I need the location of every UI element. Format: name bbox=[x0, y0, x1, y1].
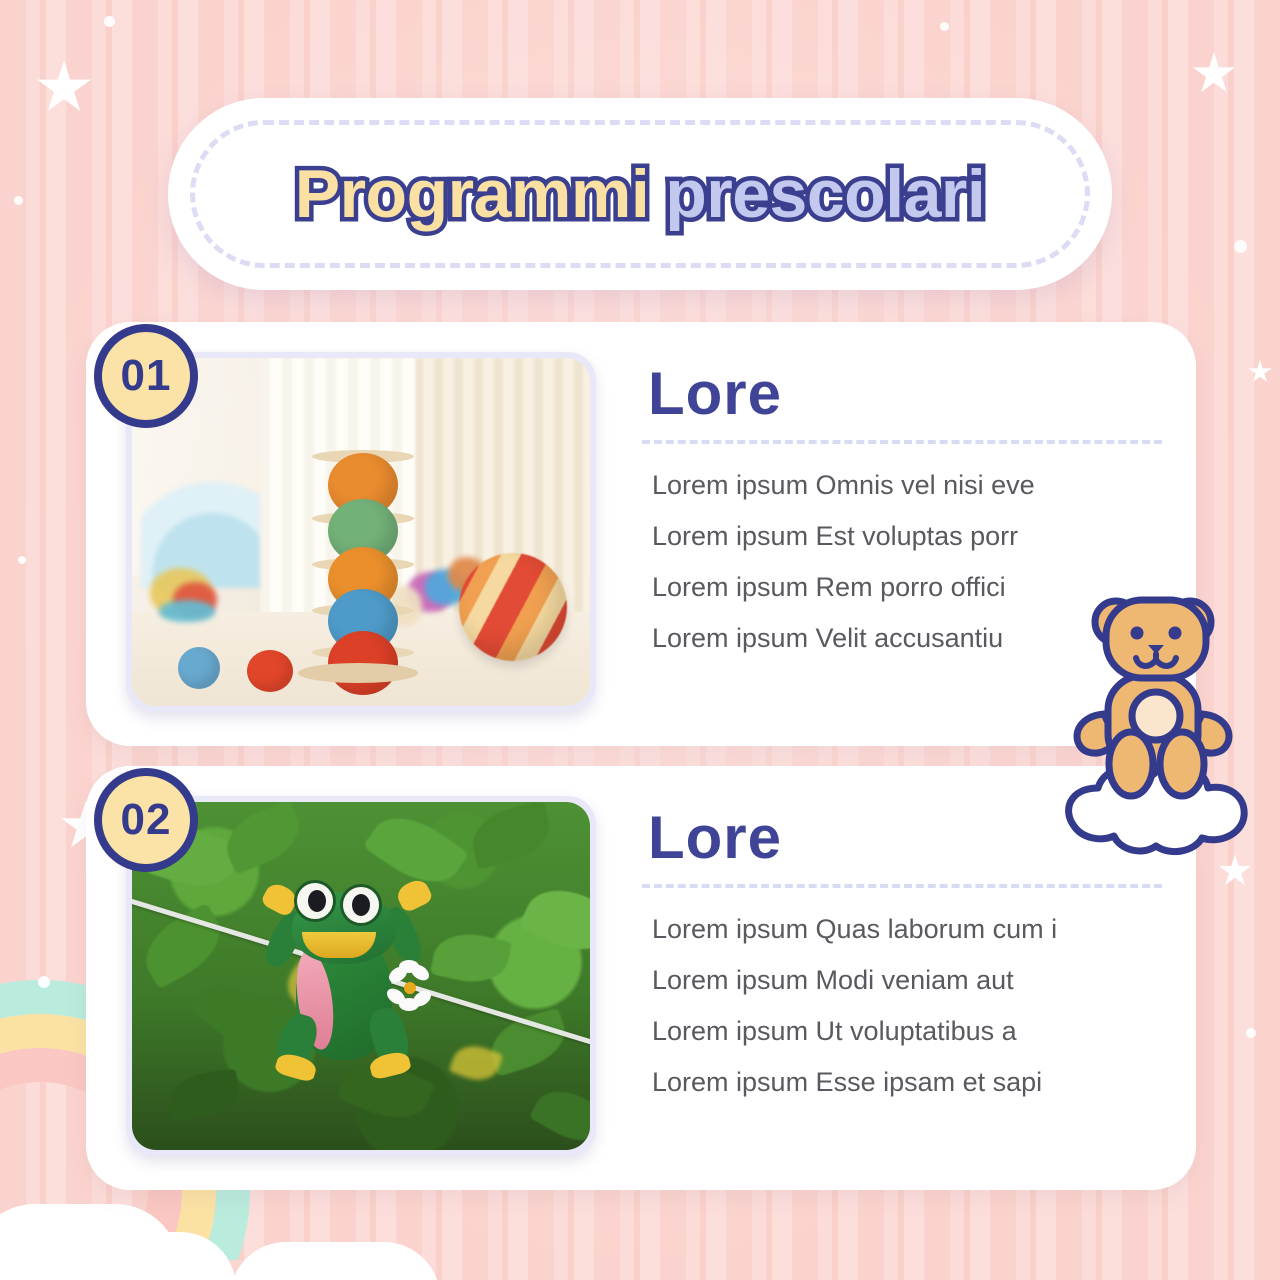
teddy-bear-on-cloud-icon bbox=[1058, 588, 1258, 858]
title-word-secondary: prescolari bbox=[665, 155, 985, 233]
section-divider-02 bbox=[642, 884, 1162, 888]
list-item: Lorem ipsum Esse ipsam et sapi bbox=[652, 1069, 1162, 1096]
list-item: Lorem ipsum Est voluptas porr bbox=[652, 523, 1162, 574]
photo-frame-01[interactable]: 01 bbox=[126, 352, 596, 712]
content-card-02[interactable]: 02 bbox=[86, 766, 1196, 1190]
cloud-decoration-bottom bbox=[230, 1242, 440, 1280]
page-title: Programmi prescolari bbox=[168, 98, 1112, 290]
content-card-01[interactable]: 01 bbox=[86, 322, 1196, 746]
frog-ornament bbox=[274, 858, 434, 1098]
list-item: Lorem ipsum Omnis vel nisi eve bbox=[652, 472, 1162, 523]
step-badge-01: 01 bbox=[94, 324, 198, 428]
list-item: Lorem ipsum Modi veniam aut bbox=[652, 967, 1162, 1018]
list-item: Lorem ipsum Ut voluptatibus a bbox=[652, 1018, 1162, 1069]
photo-frame-02[interactable]: 02 bbox=[126, 796, 596, 1156]
dot-decoration bbox=[1246, 1028, 1256, 1038]
bullet-list-02: Lorem ipsum Quas laborum cum i Lorem ips… bbox=[642, 916, 1162, 1096]
dot-decoration bbox=[104, 16, 115, 27]
section-divider-01 bbox=[642, 440, 1162, 444]
title-word-primary: Programmi bbox=[295, 155, 650, 233]
title-banner: Programmi prescolari bbox=[168, 98, 1112, 290]
list-item: Lorem ipsum Quas laborum cum i bbox=[652, 916, 1162, 967]
garden-frog-photo bbox=[132, 802, 590, 1150]
dot-decoration bbox=[14, 196, 23, 205]
section-heading-01: Lore bbox=[648, 364, 1162, 424]
dot-decoration bbox=[1234, 240, 1247, 253]
slide-canvas: Programmi prescolari 01 bbox=[0, 0, 1280, 1280]
step-badge-02: 02 bbox=[94, 768, 198, 872]
dot-decoration bbox=[940, 22, 949, 31]
dot-decoration bbox=[18, 556, 26, 564]
dot-decoration bbox=[38, 976, 50, 988]
flower-icon bbox=[386, 964, 434, 1012]
playroom-toys-photo bbox=[132, 358, 590, 706]
